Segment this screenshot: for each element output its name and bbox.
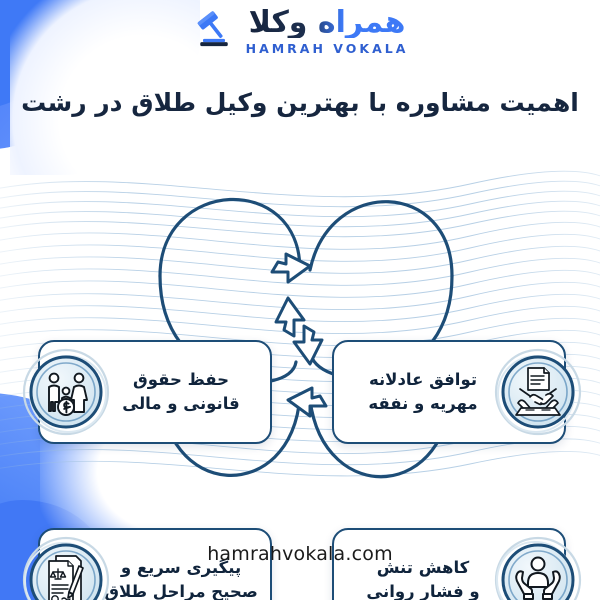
logo-persian-name: همراه وکلا (249, 8, 406, 38)
page-title: اهمیت مشاوره با بهترین وکیل طلاق در رشت (0, 88, 600, 117)
arrowhead-to-top-right (272, 254, 310, 282)
arrowhead-to-bottom-left (288, 388, 326, 416)
infographic-canvas: همراه وکلا HAMRAH VOKALA اهمیت مشاوره با… (0, 0, 600, 600)
arc-top-right (310, 202, 452, 276)
cycle-diagram: حفظ حقوققانونی و مالی (0, 150, 600, 510)
gavel-icon (192, 10, 236, 54)
website-url[interactable]: hamrahvokala.com (0, 543, 600, 565)
card-tavafogh-adelane[interactable]: توافق عادلانهمهریه و نفقه (332, 340, 566, 444)
card-label: حفظ حقوققانونی و مالی (92, 368, 270, 416)
brand-logo: همراه وکلا HAMRAH VOKALA (0, 8, 600, 56)
card-label: توافق عادلانهمهریه و نفقه (334, 368, 512, 416)
arrowhead-to-bottom-right (294, 326, 322, 364)
card-hefz-hoghoogh[interactable]: حفظ حقوققانونی و مالی (38, 340, 272, 444)
logo-latin-name: HAMRAH VOKALA (246, 43, 409, 56)
family-money-icon (22, 348, 110, 436)
handshake-document-icon (494, 348, 582, 436)
logo-wordmark: همراه وکلا HAMRAH VOKALA (246, 8, 409, 56)
arrowhead-to-top-left (276, 298, 304, 336)
flow-arrows (0, 150, 600, 510)
